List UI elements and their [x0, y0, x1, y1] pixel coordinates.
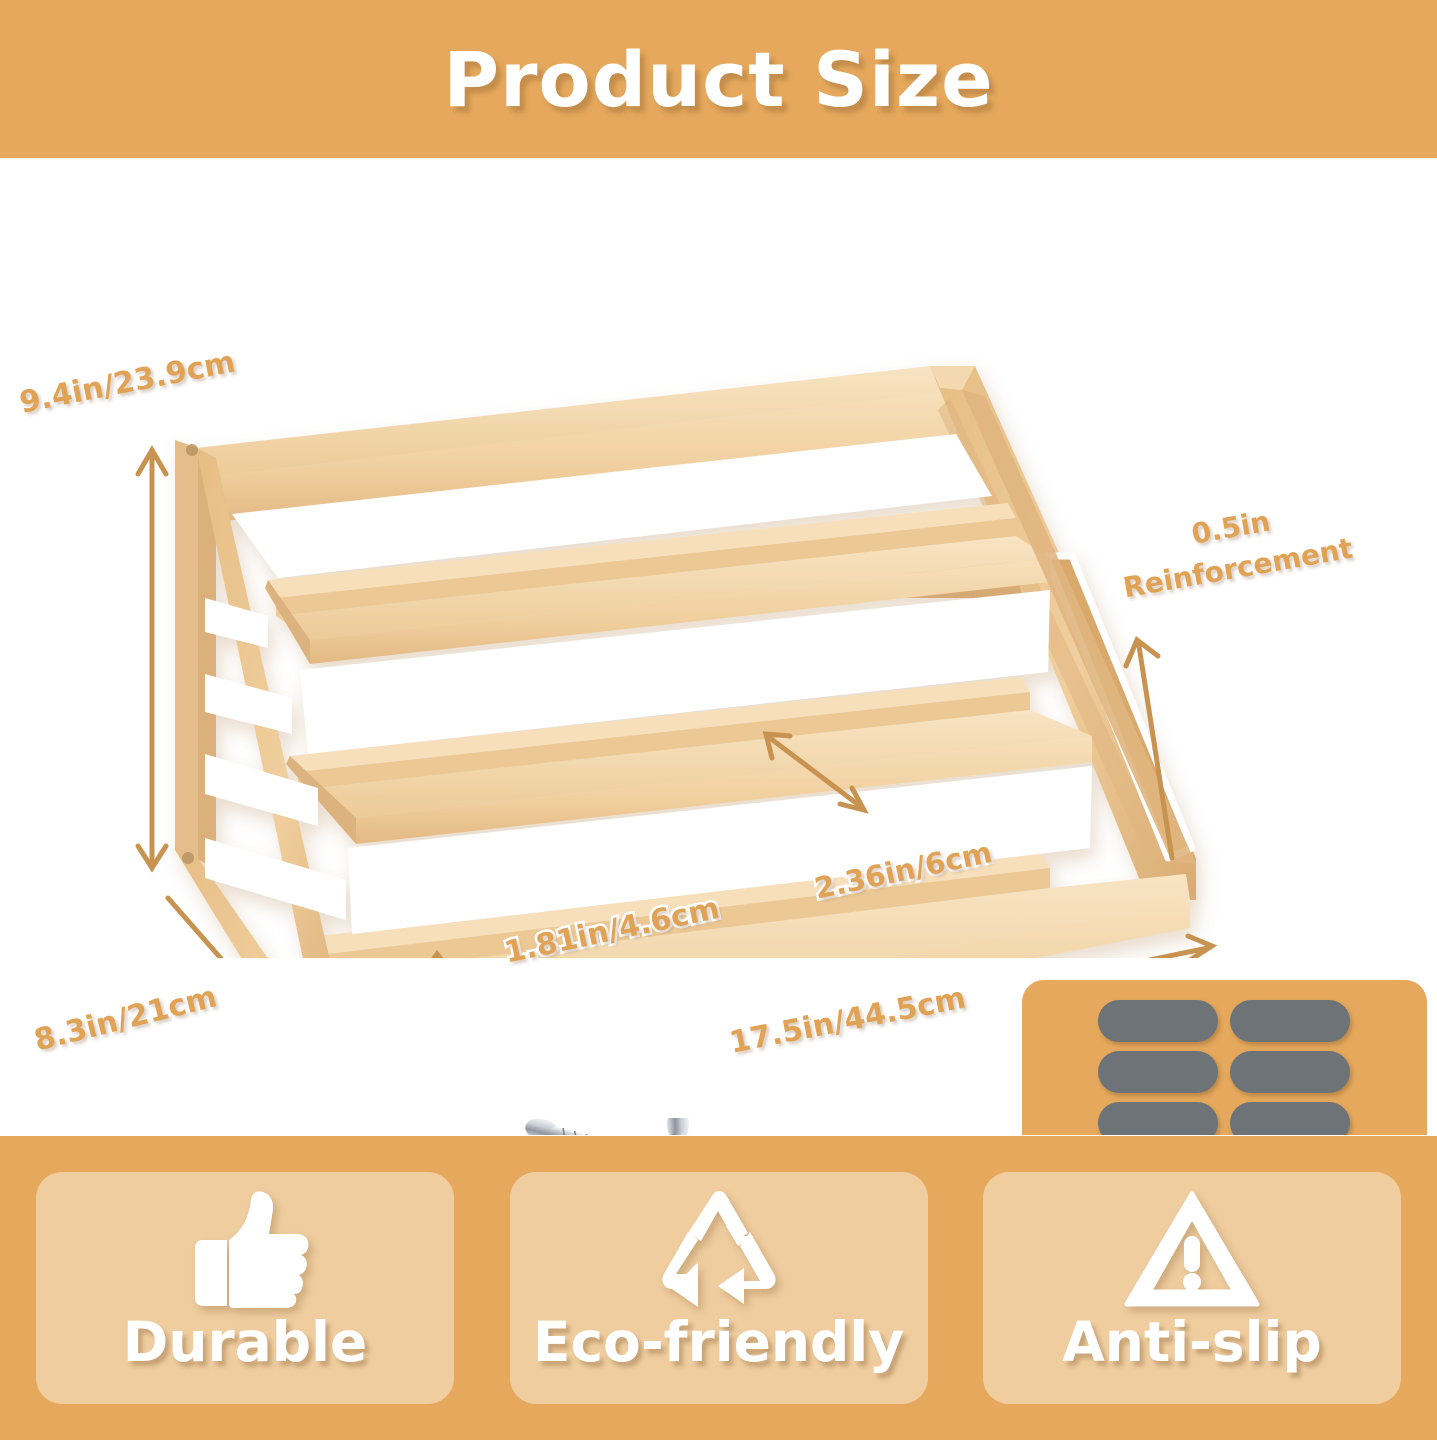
- dimension-label-width: 17.5in/44.5cm: [727, 981, 969, 1061]
- feature-card-anti-slip: Anti-slip: [983, 1172, 1401, 1404]
- screws-icon: [523, 1118, 779, 1135]
- feature-card-durable: Durable: [36, 1172, 454, 1404]
- mat-grid: [1098, 1000, 1350, 1135]
- dimension-label-side-depth: 8.3in/21cm: [31, 979, 220, 1058]
- mat-pill: [1230, 1051, 1350, 1093]
- feature-cards: Durable Eco-friendly: [0, 1136, 1437, 1440]
- mat-pill: [1230, 1102, 1350, 1135]
- page-title: Product Size: [443, 35, 993, 124]
- mat-pill: [1098, 1051, 1218, 1093]
- mat-pill: [1098, 1000, 1218, 1042]
- feature-card-eco-friendly: Eco-friendly: [510, 1172, 928, 1404]
- tools-artwork: [112, 1118, 972, 1135]
- warning-triangle-icon: [1123, 1190, 1261, 1308]
- anti-slip-mat-panel: Anti-slip Mat: [1022, 980, 1427, 1135]
- mat-pill: [1230, 1000, 1350, 1042]
- product-stage: 9.4in/23.9cm 0.5in Reinforcement 1.81in/…: [0, 158, 1437, 1135]
- thumbs-up-icon: [171, 1190, 319, 1308]
- product-size-infographic: Product Size: [0, 0, 1437, 1440]
- mat-pill: [1098, 1102, 1218, 1135]
- feature-label-anti-slip: Anti-slip: [1062, 1310, 1322, 1374]
- feature-label-eco-friendly: Eco-friendly: [533, 1310, 904, 1374]
- recycle-icon: [652, 1190, 786, 1308]
- feature-band: Durable Eco-friendly: [0, 1136, 1437, 1440]
- feature-label-durable: Durable: [123, 1310, 368, 1374]
- header-banner: Product Size: [0, 0, 1437, 158]
